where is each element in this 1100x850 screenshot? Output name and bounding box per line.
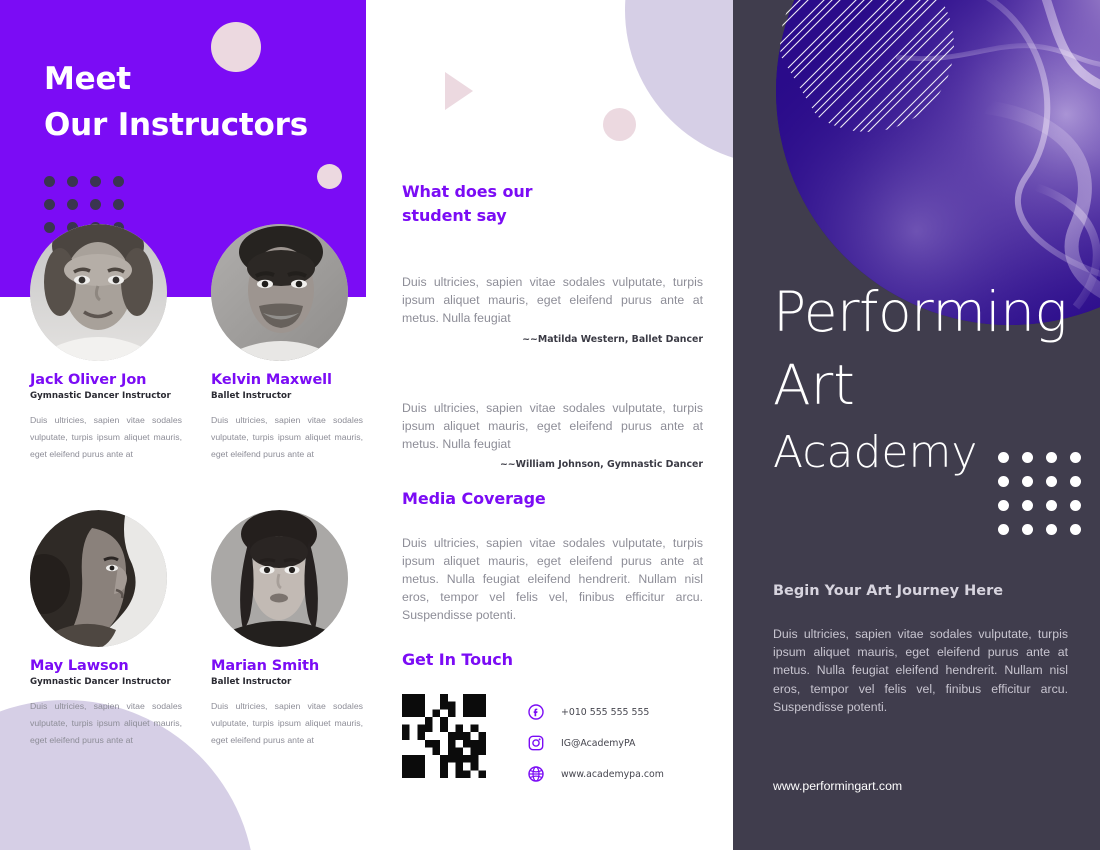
portrait-woman-front-photo bbox=[211, 510, 348, 647]
instructor-name: Jack Oliver Jon bbox=[30, 372, 190, 388]
student-say-heading: What does our student say bbox=[402, 180, 703, 227]
instructor-list: Jack Oliver Jon Gymnastic Dancer Instruc… bbox=[0, 0, 370, 850]
instructor-description: Duis ultricies, sapien vitae sodales vul… bbox=[30, 412, 182, 463]
contact-text: IG@AcademyPA bbox=[561, 738, 635, 749]
instructor-name: Marian Smith bbox=[211, 658, 371, 674]
instructor-avatar bbox=[211, 510, 348, 647]
testimonial-2-text: Duis ultricies, sapien vitae sodales vul… bbox=[402, 399, 703, 454]
facebook-icon bbox=[528, 704, 544, 720]
media-coverage-body: Duis ultricies, sapien vitae sodales vul… bbox=[402, 534, 703, 625]
portrait-woman-profile-photo bbox=[30, 510, 167, 647]
instructor-description: Duis ultricies, sapien vitae sodales vul… bbox=[211, 698, 363, 749]
instructor-role: Gymnastic Dancer Instructor bbox=[30, 677, 190, 687]
contact-text: +010 555 555 555 bbox=[561, 707, 649, 718]
middle-column: What does our student say Duis ultricies… bbox=[402, 0, 707, 850]
media-coverage-section: Media Coverage Duis ultricies, sapien vi… bbox=[402, 487, 703, 624]
list-item[interactable]: May Lawson Gymnastic Dancer Instructor D… bbox=[30, 510, 190, 749]
contact-row: +010 555 555 555 IG@AcademyPA bbox=[402, 694, 707, 790]
portrait-smiling-man-photo bbox=[211, 224, 348, 361]
right-panel-body-text: Duis ultricies, sapien vitae sodales vul… bbox=[773, 625, 1068, 716]
globe-icon bbox=[528, 766, 544, 782]
instructor-role: Ballet Instructor bbox=[211, 677, 371, 687]
instructor-avatar bbox=[30, 510, 167, 647]
contact-text: www.academypa.com bbox=[561, 769, 664, 780]
title-line-performing: Performing bbox=[773, 285, 1067, 340]
title-line-academy: Academy bbox=[773, 431, 1067, 475]
portrait-young-man-photo bbox=[30, 224, 167, 361]
list-item[interactable]: Marian Smith Ballet Instructor Duis ultr… bbox=[211, 510, 371, 749]
right-dark-panel: Performing Art Academy Begin Your Art Jo… bbox=[733, 0, 1100, 850]
testimonial-1-attribution: ~~Matilda Western, Ballet Dancer bbox=[402, 334, 703, 345]
title-line-art: Art bbox=[773, 358, 1067, 413]
instagram-icon bbox=[528, 735, 544, 751]
list-item[interactable]: Kelvin Maxwell Ballet Instructor Duis ul… bbox=[211, 224, 371, 463]
get-in-touch-heading: Get In Touch bbox=[402, 648, 707, 672]
student-testimonials-section: What does our student say Duis ultricies… bbox=[402, 180, 703, 470]
contact-item-website[interactable]: www.academypa.com bbox=[528, 759, 664, 790]
student-say-heading-line1: What does our bbox=[402, 182, 532, 201]
instructor-avatar bbox=[30, 224, 167, 361]
instructor-role: Gymnastic Dancer Instructor bbox=[30, 391, 190, 401]
instructor-description: Duis ultricies, sapien vitae sodales vul… bbox=[211, 412, 363, 463]
qr-code[interactable] bbox=[402, 694, 486, 778]
brochure-page: Performing Art Academy Begin Your Art Jo… bbox=[0, 0, 1100, 850]
academy-title: Performing Art Academy bbox=[773, 285, 1067, 475]
list-item[interactable]: Jack Oliver Jon Gymnastic Dancer Instruc… bbox=[30, 224, 190, 463]
get-in-touch-section: Get In Touch bbox=[402, 648, 707, 790]
testimonial-1-text: Duis ultricies, sapien vitae sodales vul… bbox=[402, 273, 703, 328]
instructor-name: Kelvin Maxwell bbox=[211, 372, 371, 388]
contact-item-phone[interactable]: +010 555 555 555 bbox=[528, 697, 664, 728]
instructor-name: May Lawson bbox=[30, 658, 190, 674]
qr-code-image bbox=[402, 694, 486, 778]
website-url[interactable]: www.performingart.com bbox=[773, 779, 902, 793]
instructor-avatar bbox=[211, 224, 348, 361]
contact-item-instagram[interactable]: IG@AcademyPA bbox=[528, 728, 664, 759]
contact-list: +010 555 555 555 IG@AcademyPA bbox=[528, 694, 664, 790]
testimonial-2-attribution: ~~William Johnson, Gymnastic Dancer bbox=[402, 459, 703, 470]
instructor-description: Duis ultricies, sapien vitae sodales vul… bbox=[30, 698, 182, 749]
tagline: Begin Your Art Journey Here bbox=[773, 583, 1003, 599]
media-coverage-heading: Media Coverage bbox=[402, 487, 703, 511]
student-say-heading-line2: student say bbox=[402, 206, 507, 225]
instructor-role: Ballet Instructor bbox=[211, 391, 371, 401]
